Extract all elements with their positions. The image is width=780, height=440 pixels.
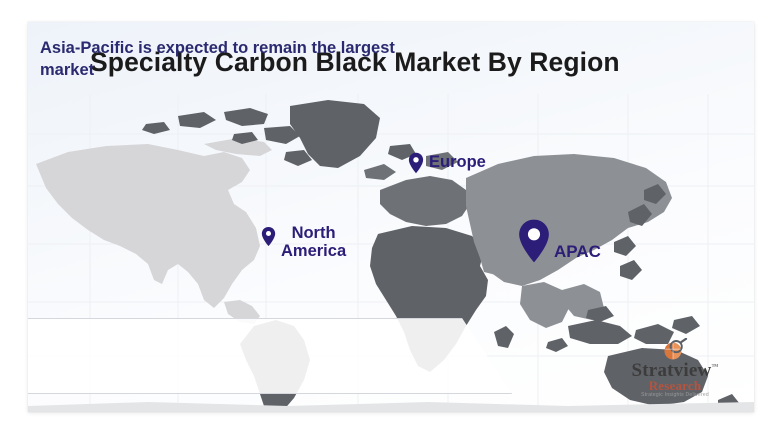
slide-canvas: Specialty Carbon Black Market By Region bbox=[28, 22, 754, 412]
map-pin-icon bbox=[408, 152, 424, 174]
region-label-apac: APAC bbox=[554, 243, 601, 264]
region-marker-europe[interactable]: Europe bbox=[408, 152, 486, 174]
region-label-north-america-line1: North bbox=[292, 224, 336, 242]
brand-logo: Stratview™ Research Strategic Insights D… bbox=[620, 338, 730, 400]
map-pin-icon bbox=[517, 218, 551, 264]
continent-north-america bbox=[36, 138, 272, 324]
region-label-north-america-line2: America bbox=[281, 242, 346, 260]
region-label-europe: Europe bbox=[429, 154, 486, 172]
logo-trademark: ™ bbox=[711, 363, 718, 371]
region-marker-north-america[interactable]: North America bbox=[261, 225, 346, 261]
magnifier-over-globe-icon bbox=[662, 338, 688, 362]
region-marker-apac[interactable]: APAC bbox=[517, 218, 601, 264]
map-pin-icon bbox=[261, 226, 276, 247]
logo-tagline: Strategic Insights Delivered bbox=[620, 392, 730, 398]
region-label-north-america: North America bbox=[281, 225, 346, 261]
caption-text: Asia-Pacific is expected to remain the l… bbox=[40, 38, 440, 82]
continent-antarctic-fringe bbox=[28, 402, 754, 412]
caption-banner bbox=[28, 318, 512, 394]
